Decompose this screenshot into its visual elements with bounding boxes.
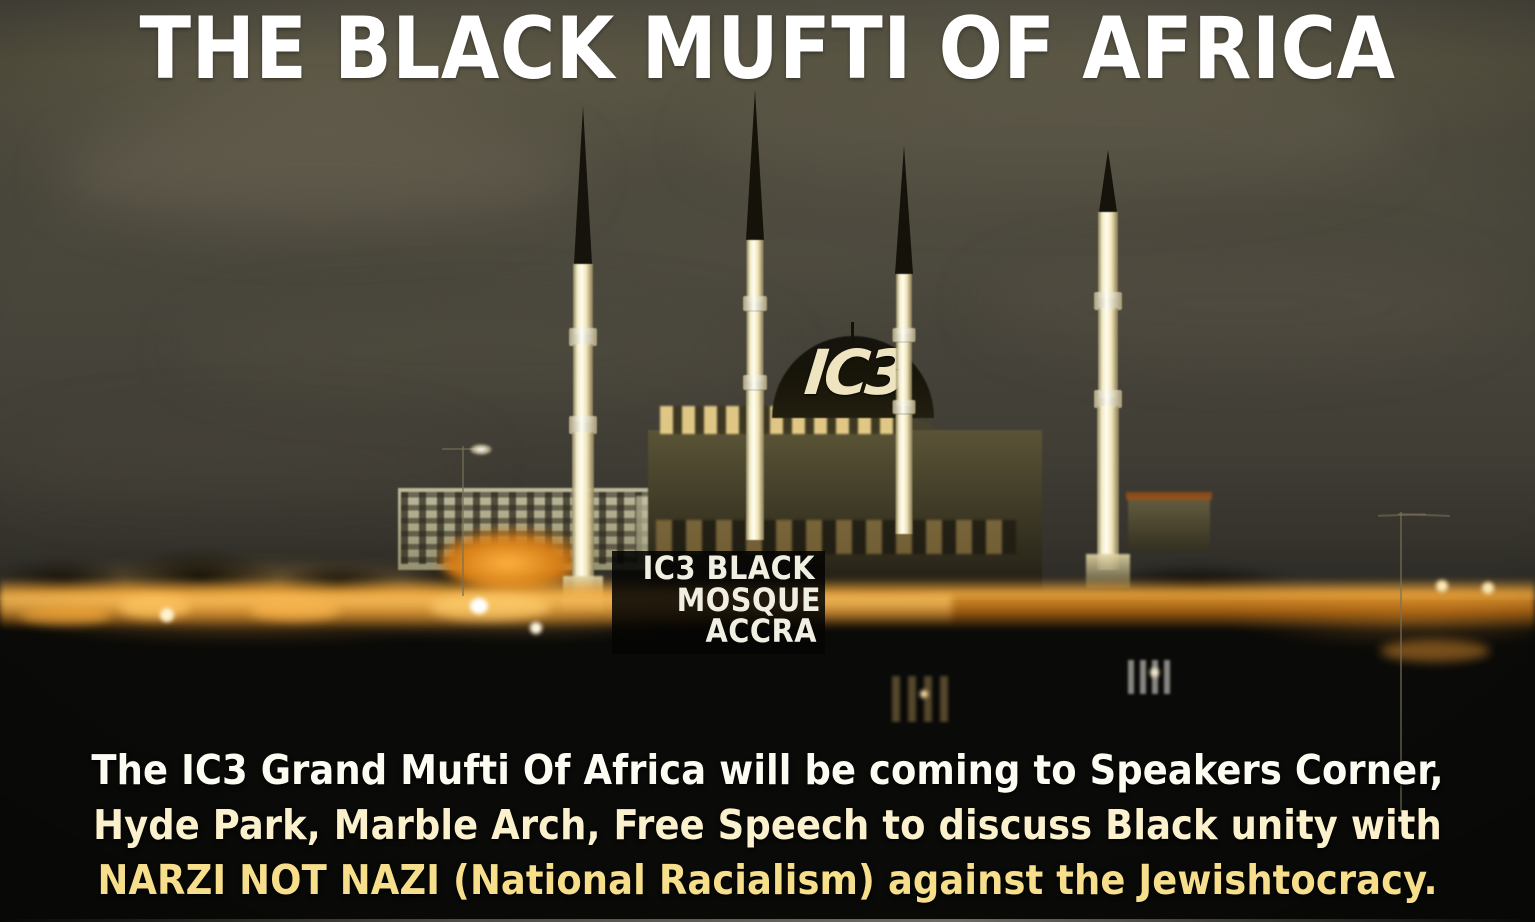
street-lamp-pole [462, 446, 464, 596]
street-lamp-head [470, 444, 492, 455]
minaret-shaft [747, 311, 764, 381]
minaret-shaft [896, 342, 912, 406]
mosque-sign-overlay: IC3 BLACK MOSQUE ACCRA [612, 551, 825, 654]
minaret-shaft [1098, 308, 1118, 398]
minaret-balcony [893, 328, 916, 342]
point-light [470, 598, 488, 614]
point-light [1436, 580, 1448, 592]
minaret-right-outer [1088, 150, 1128, 590]
lit-window-cluster [892, 676, 950, 722]
minaret-shaft [1097, 406, 1119, 570]
minaret-shaft [746, 390, 764, 540]
light-blob [1380, 640, 1490, 662]
minaret-balcony [743, 375, 767, 390]
minaret-left-outer [563, 106, 603, 606]
minaret-shaft [747, 240, 764, 302]
minaret-shaft [573, 344, 593, 422]
cloud-shape [180, 300, 780, 400]
minaret-right-inner [888, 146, 920, 546]
caption-block: The IC3 Grand Mufti Of Africa will be co… [0, 743, 1535, 908]
light-blob [430, 594, 550, 620]
minaret-balcony [893, 400, 916, 414]
minaret-shaft [573, 264, 593, 334]
caption-line-2: Hyde Park, Marble Arch, Free Speech to d… [0, 798, 1535, 853]
minaret-shaft [1098, 212, 1118, 298]
page-title: THE BLACK MUFTI OF AFRICA [18, 6, 1517, 92]
minaret-spire-icon [895, 146, 913, 274]
minaret-spire-icon [746, 90, 764, 240]
point-light [1482, 582, 1494, 594]
minaret-shaft [896, 414, 913, 534]
lit-window-cluster [1128, 660, 1172, 694]
cloud-shape [980, 250, 1500, 360]
annex-building [1128, 496, 1210, 552]
minaret-balcony [743, 296, 767, 311]
light-blob [20, 606, 110, 624]
minaret-left-inner [738, 90, 772, 520]
light-blob [250, 600, 340, 620]
light-blob [120, 596, 190, 618]
minaret-spire-icon [1099, 150, 1117, 212]
point-light [530, 622, 542, 634]
mosque-sign-line-3: ACCRA [616, 616, 821, 648]
cloud-shape [60, 120, 580, 230]
caption-line-3: NARZI NOT NAZI (National Racialism) agai… [0, 853, 1535, 908]
minaret-spire-icon [574, 106, 592, 264]
minaret-shaft [896, 274, 912, 334]
annex-roof [1126, 492, 1212, 500]
minaret-shaft [572, 432, 594, 596]
poster-image: IC3 [0, 0, 1535, 922]
mosque-sign-line-1: IC3 BLACK [616, 553, 821, 585]
caption-line-1: The IC3 Grand Mufti Of Africa will be co… [0, 743, 1535, 798]
point-light [160, 608, 174, 622]
